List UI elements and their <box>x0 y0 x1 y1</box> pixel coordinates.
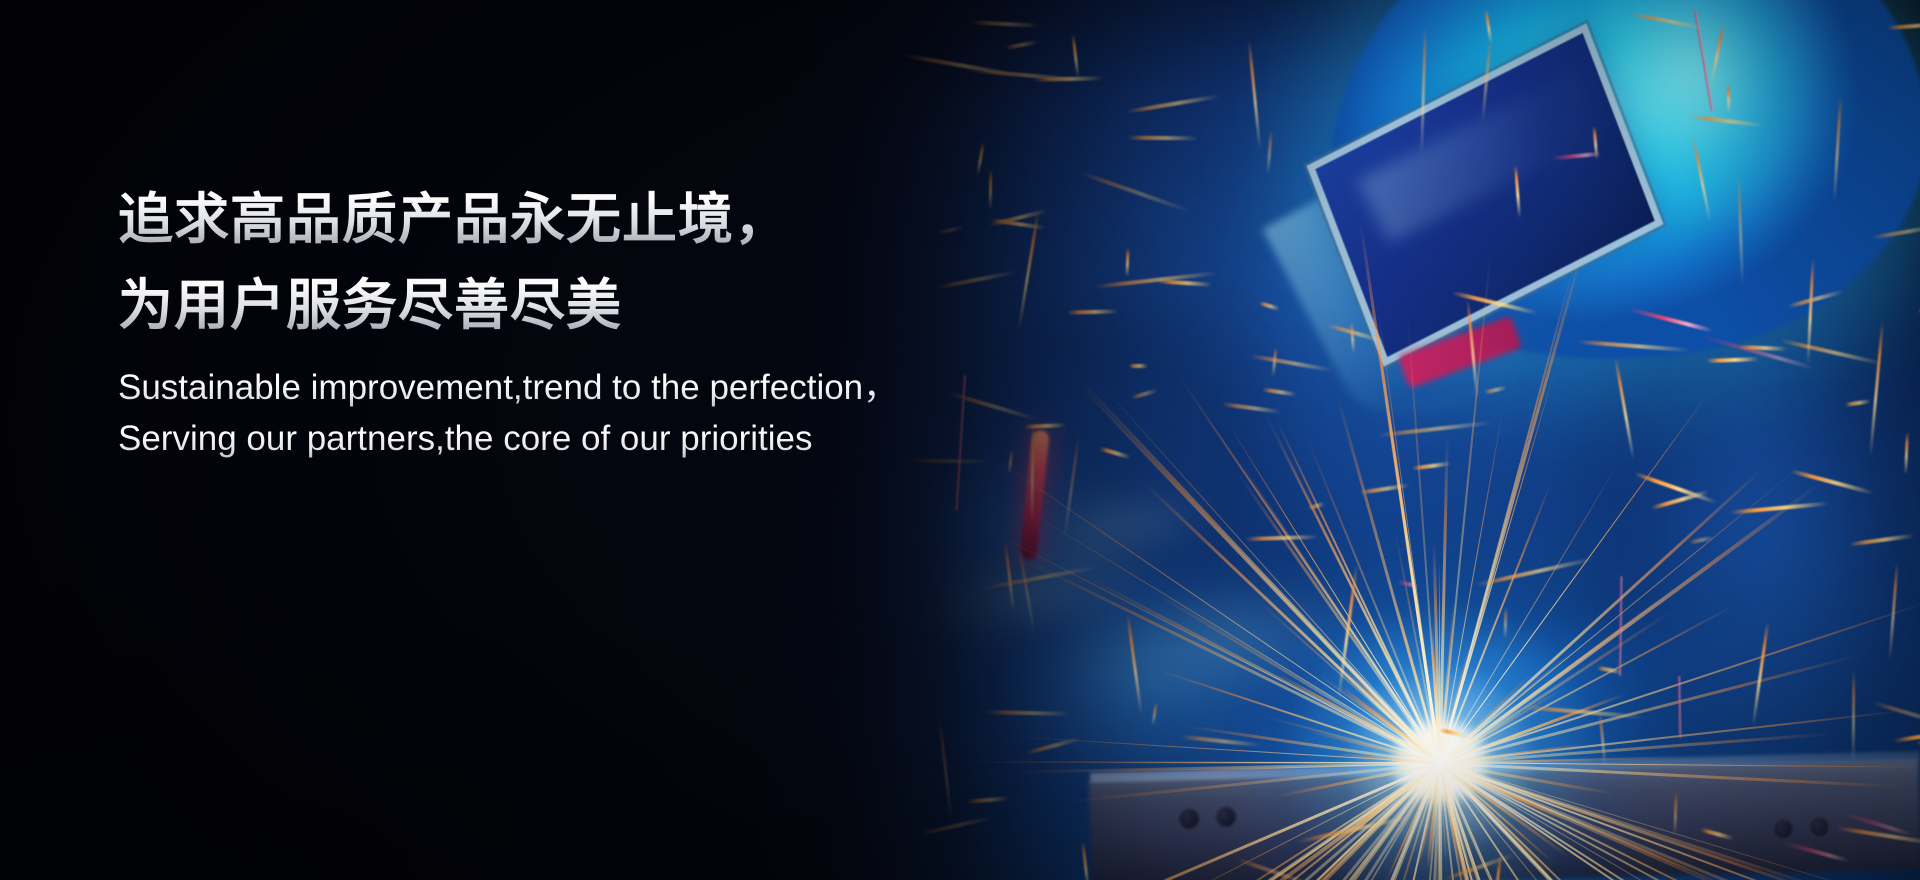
banner-copy: 追求高品质产品永无止境， 为用户服务尽善尽美 Sustainable impro… <box>118 176 898 464</box>
headline-line-2: 为用户服务尽善尽美 <box>118 262 898 348</box>
headline-line-1: 追求高品质产品永无止境， <box>118 176 898 262</box>
subheadline-group: Sustainable improvement,trend to the per… <box>118 362 898 464</box>
subheadline-line-2: Serving our partners,the core of our pri… <box>118 413 898 464</box>
subheadline-line-1: Sustainable improvement,trend to the per… <box>118 362 898 413</box>
hero-banner: 追求高品质产品永无止境， 为用户服务尽善尽美 Sustainable impro… <box>0 0 1920 880</box>
